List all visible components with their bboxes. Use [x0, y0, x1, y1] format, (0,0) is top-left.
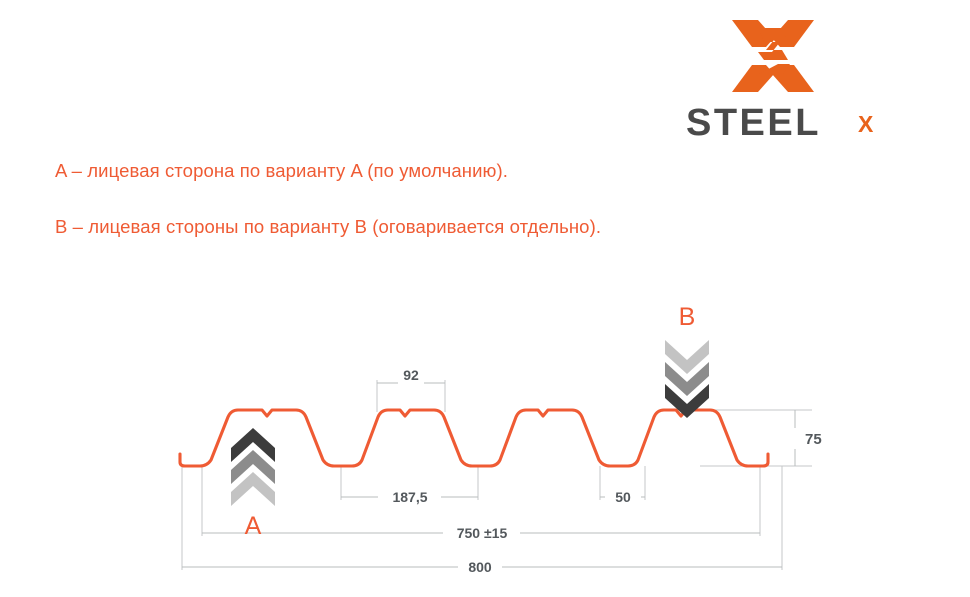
steelx-wordmark: STEEL X [686, 102, 906, 144]
marker-a-label: A [245, 512, 262, 540]
chevron-down-icon-stack [665, 340, 709, 418]
wordmark-steel-text: STEEL [686, 102, 821, 144]
caption-variant-b: B – лицевая стороны по варианту B (огова… [55, 216, 601, 238]
side-marker-a: A [231, 428, 275, 540]
dimension-label-187-5: 187,5 [392, 489, 427, 505]
dimension-label-800: 800 [468, 559, 492, 575]
dimension-label-75: 75 [805, 431, 822, 448]
dimension-labels: 92 187,5 50 75 750 ±15 800 [392, 367, 821, 575]
dimension-label-92: 92 [403, 367, 419, 383]
marker-b-label: B [679, 303, 696, 331]
side-marker-b: B [665, 303, 709, 418]
wordmark-x-text: X [858, 111, 874, 137]
steelx-x-mark-icon [730, 14, 816, 98]
profile-outline-path [180, 410, 768, 466]
dimension-label-750: 750 ±15 [457, 525, 508, 541]
brand-logo: STEEL X [686, 14, 906, 144]
dimension-label-50: 50 [615, 489, 631, 505]
profile-technical-drawing: 92 187,5 50 75 750 ±15 800 A B [0, 286, 970, 597]
caption-variant-a: A – лицевая сторона по варианту A (по ум… [55, 160, 508, 182]
chevron-up-icon-stack [231, 428, 275, 506]
